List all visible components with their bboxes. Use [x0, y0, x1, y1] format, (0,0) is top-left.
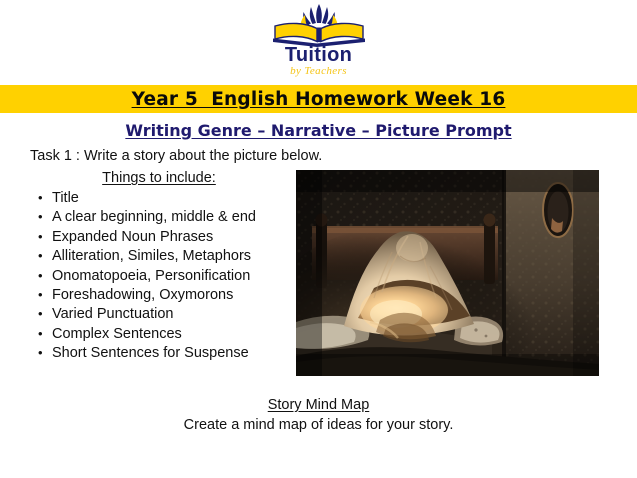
- list-item: Complex Sentences: [38, 325, 288, 344]
- content-row: Things to include: Title A clear beginni…: [0, 170, 637, 376]
- logo-wordmark: Tuition: [285, 45, 352, 65]
- photo-canvas: [296, 170, 599, 376]
- mindmap-heading: Story Mind Map: [268, 397, 370, 413]
- picture-prompt-photo: [296, 170, 599, 376]
- page-title: Year 5 English Homework Week 16: [132, 89, 506, 110]
- checklist: Title A clear beginning, middle & end Ex…: [10, 189, 288, 364]
- header-banner: Year 5 English Homework Week 16: [0, 85, 637, 113]
- list-item: Alliteration, Similes, Metaphors: [38, 247, 288, 266]
- list-item: A clear beginning, middle & end: [38, 208, 288, 227]
- page-subtitle: Writing Genre – Narrative – Picture Prom…: [125, 121, 511, 140]
- list-item: Onomatopoeia, Personification: [38, 267, 288, 286]
- list-item: Foreshadowing, Oxymorons: [38, 286, 288, 305]
- mindmap-section: Story Mind Map Create a mind map of idea…: [0, 396, 637, 433]
- list-item: Expanded Noun Phrases: [38, 228, 288, 247]
- logo-band: Tuition by Teachers: [0, 0, 637, 85]
- brand-logo: Tuition by Teachers: [259, 0, 379, 82]
- checklist-heading: Things to include:: [30, 170, 288, 186]
- list-item: Varied Punctuation: [38, 305, 288, 324]
- subtitle-row: Writing Genre – Narrative – Picture Prom…: [0, 113, 637, 144]
- checklist-column: Things to include: Title A clear beginni…: [0, 170, 288, 364]
- page-bottom-area: [0, 452, 637, 478]
- list-item: Short Sentences for Suspense: [38, 344, 288, 363]
- list-item: Title: [38, 189, 288, 208]
- mindmap-instruction: Create a mind map of ideas for your stor…: [0, 417, 637, 433]
- logo-tagline: by Teachers: [290, 66, 347, 77]
- task-instruction: Task 1 : Write a story about the picture…: [30, 148, 637, 164]
- open-book-with-flame-icon: [267, 2, 371, 48]
